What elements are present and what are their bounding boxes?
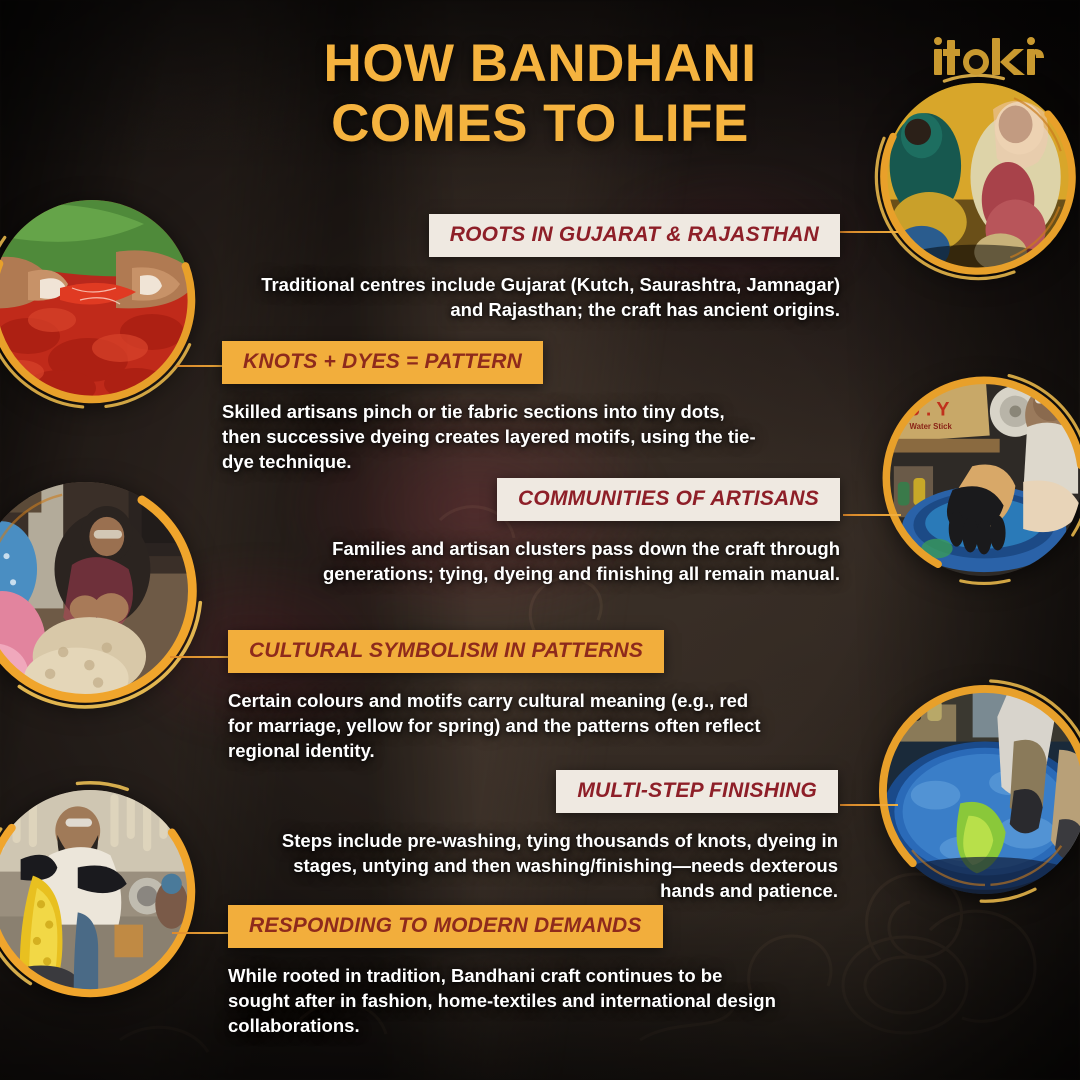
section-finishing: MULTI-STEP FINISHING Steps include pre-w… — [270, 770, 838, 903]
connector-line-communities — [843, 514, 901, 516]
connector-line-roots — [840, 231, 898, 233]
itokri-logo[interactable] — [932, 36, 1044, 85]
photo-disc — [882, 688, 1080, 894]
page-title: HOW BANDHANI COMES TO LIFE — [0, 34, 1080, 154]
itokri-logo-mark — [932, 36, 1044, 80]
section-body-knots: Skilled artisans pinch or tie fabric sec… — [222, 399, 762, 474]
section-header-communities[interactable]: COMMUNITIES OF ARTISANS — [497, 478, 840, 521]
photo-indigo-dye-bath — [882, 688, 1080, 894]
photo-image — [882, 688, 1080, 894]
section-header-finishing[interactable]: MULTI-STEP FINISHING — [556, 770, 838, 813]
connector-line-finishing — [840, 804, 898, 806]
section-symbolism: CULTURAL SYMBOLISM IN PATTERNS Certain c… — [228, 630, 773, 763]
section-header-modern[interactable]: RESPONDING TO MODERN DEMANDS — [228, 905, 663, 948]
section-knots: KNOTS + DYES = PATTERN Skilled artisans … — [222, 341, 762, 474]
section-body-communities: Families and artisan clusters pass down … — [262, 536, 840, 586]
section-body-roots: Traditional centres include Gujarat (Kut… — [260, 272, 840, 322]
connector-line-modern — [172, 932, 230, 934]
section-body-finishing: Steps include pre-washing, tying thousan… — [270, 828, 838, 903]
photo-dyer-blue-vat: J . Y Water Stick — [886, 380, 1080, 576]
section-modern: RESPONDING TO MODERN DEMANDS While roote… — [228, 905, 788, 1038]
section-communities: COMMUNITIES OF ARTISANS Families and art… — [262, 478, 840, 586]
section-header-roots[interactable]: ROOTS IN GUJARAT & RAJASTHAN — [429, 214, 840, 257]
photo-dyer-yellow-fabric — [0, 790, 192, 994]
photo-hands-tying-knots — [0, 200, 192, 400]
section-header-knots[interactable]: KNOTS + DYES = PATTERN — [222, 341, 543, 384]
photo-disc: J . Y Water Stick — [886, 380, 1080, 576]
section-roots: ROOTS IN GUJARAT & RAJASTHAN Traditional… — [260, 214, 840, 322]
photo-disc — [0, 482, 194, 700]
section-body-symbolism: Certain colours and motifs carry cultura… — [228, 688, 773, 763]
section-header-symbolism[interactable]: CULTURAL SYMBOLISM IN PATTERNS — [228, 630, 664, 673]
connector-line-symbolism — [170, 656, 232, 658]
photo-disc — [0, 200, 192, 400]
page-title-line-2: COMES TO LIFE — [0, 94, 1080, 154]
photo-women-seated-fabric — [0, 482, 194, 700]
photo-image — [0, 790, 192, 994]
photo-image — [0, 200, 192, 400]
photo-image: J . Y Water Stick — [886, 380, 1080, 576]
svg-text:Water Stick: Water Stick — [910, 422, 953, 431]
section-body-modern: While rooted in tradition, Bandhani craf… — [228, 963, 788, 1038]
svg-text:J . Y: J . Y — [910, 398, 950, 420]
photo-disc — [0, 790, 192, 994]
page-title-line-1: HOW BANDHANI — [0, 34, 1080, 94]
photo-image — [0, 482, 194, 700]
